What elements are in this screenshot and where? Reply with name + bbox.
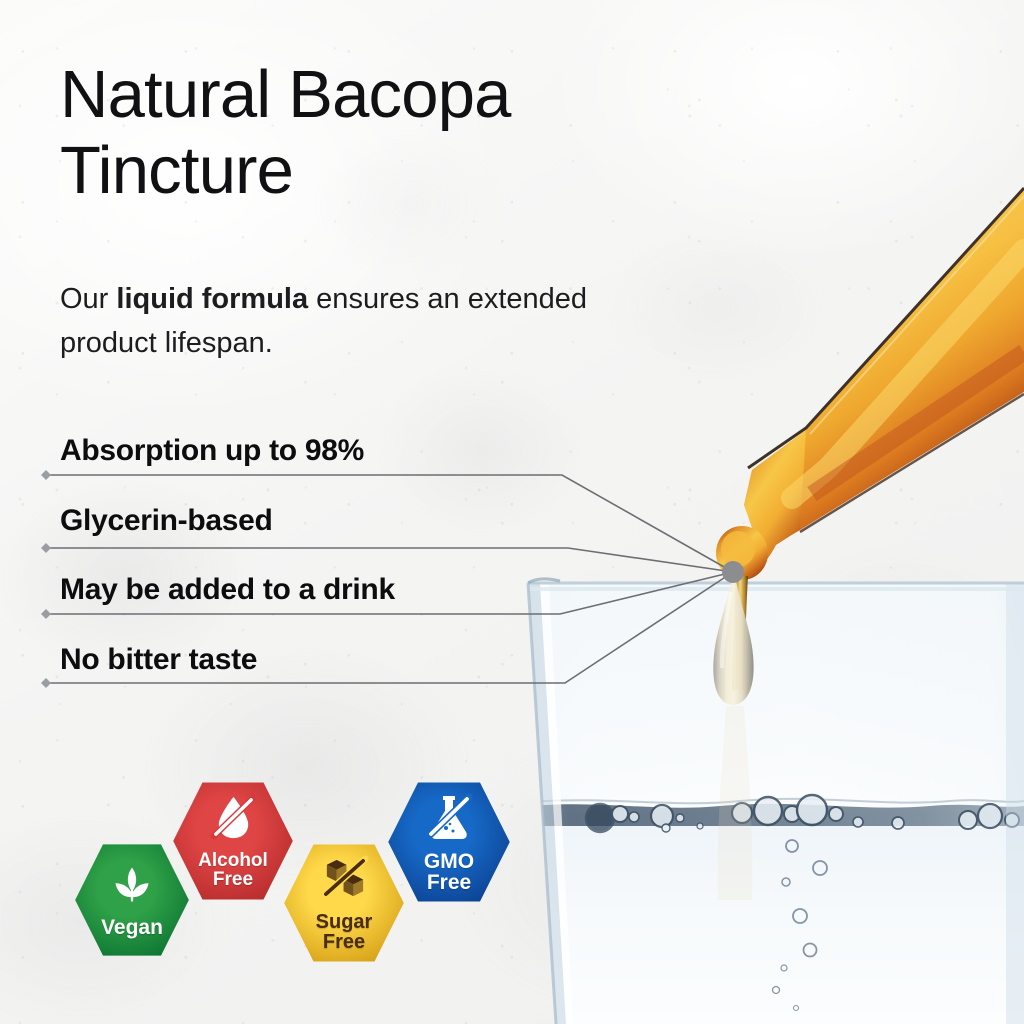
subtitle-emphasis: liquid formula	[116, 283, 308, 315]
badge-label: AlcoholFree	[198, 851, 268, 889]
subtitle-pre: Our	[60, 283, 116, 315]
no-alcohol-droplet-icon	[209, 793, 258, 847]
page-title: Natural Bacopa Tincture	[60, 57, 700, 209]
badge-label-line: Free	[316, 932, 373, 952]
badge-label-line: Free	[424, 872, 474, 893]
callout-marker-3	[41, 609, 51, 619]
subtitle: Our liquid formula ensures an extended p…	[60, 277, 600, 365]
badge-label: SugarFree	[316, 912, 373, 952]
badge-label-line: Alcohol	[198, 851, 268, 870]
no-gmo-flask-icon	[424, 792, 474, 847]
badge-label-line: GMO	[424, 851, 474, 872]
no-sugar-cubes-icon	[320, 854, 369, 908]
feature-label-1: Absorption up to 98%	[60, 434, 364, 468]
badge-label-line: Vegan	[101, 917, 163, 938]
callout-line-2	[46, 548, 733, 572]
feature-label-4: No bitter taste	[60, 643, 257, 677]
callout-marker-2	[41, 543, 51, 553]
feature-label-3: May be added to a drink	[60, 573, 395, 607]
badge-label: GMOFree	[424, 851, 474, 893]
badge-label-line: Sugar	[316, 912, 373, 932]
callout-hub	[722, 561, 744, 583]
badge-label: Vegan	[101, 917, 163, 938]
product-infographic: Natural Bacopa Tincture Our liquid formu…	[0, 0, 1024, 1024]
feature-label-2: Glycerin-based	[60, 504, 273, 538]
leaves-icon	[109, 863, 155, 914]
callout-marker-4	[41, 678, 51, 688]
callout-marker-1	[41, 470, 51, 480]
badge-label-line: Free	[198, 870, 268, 889]
